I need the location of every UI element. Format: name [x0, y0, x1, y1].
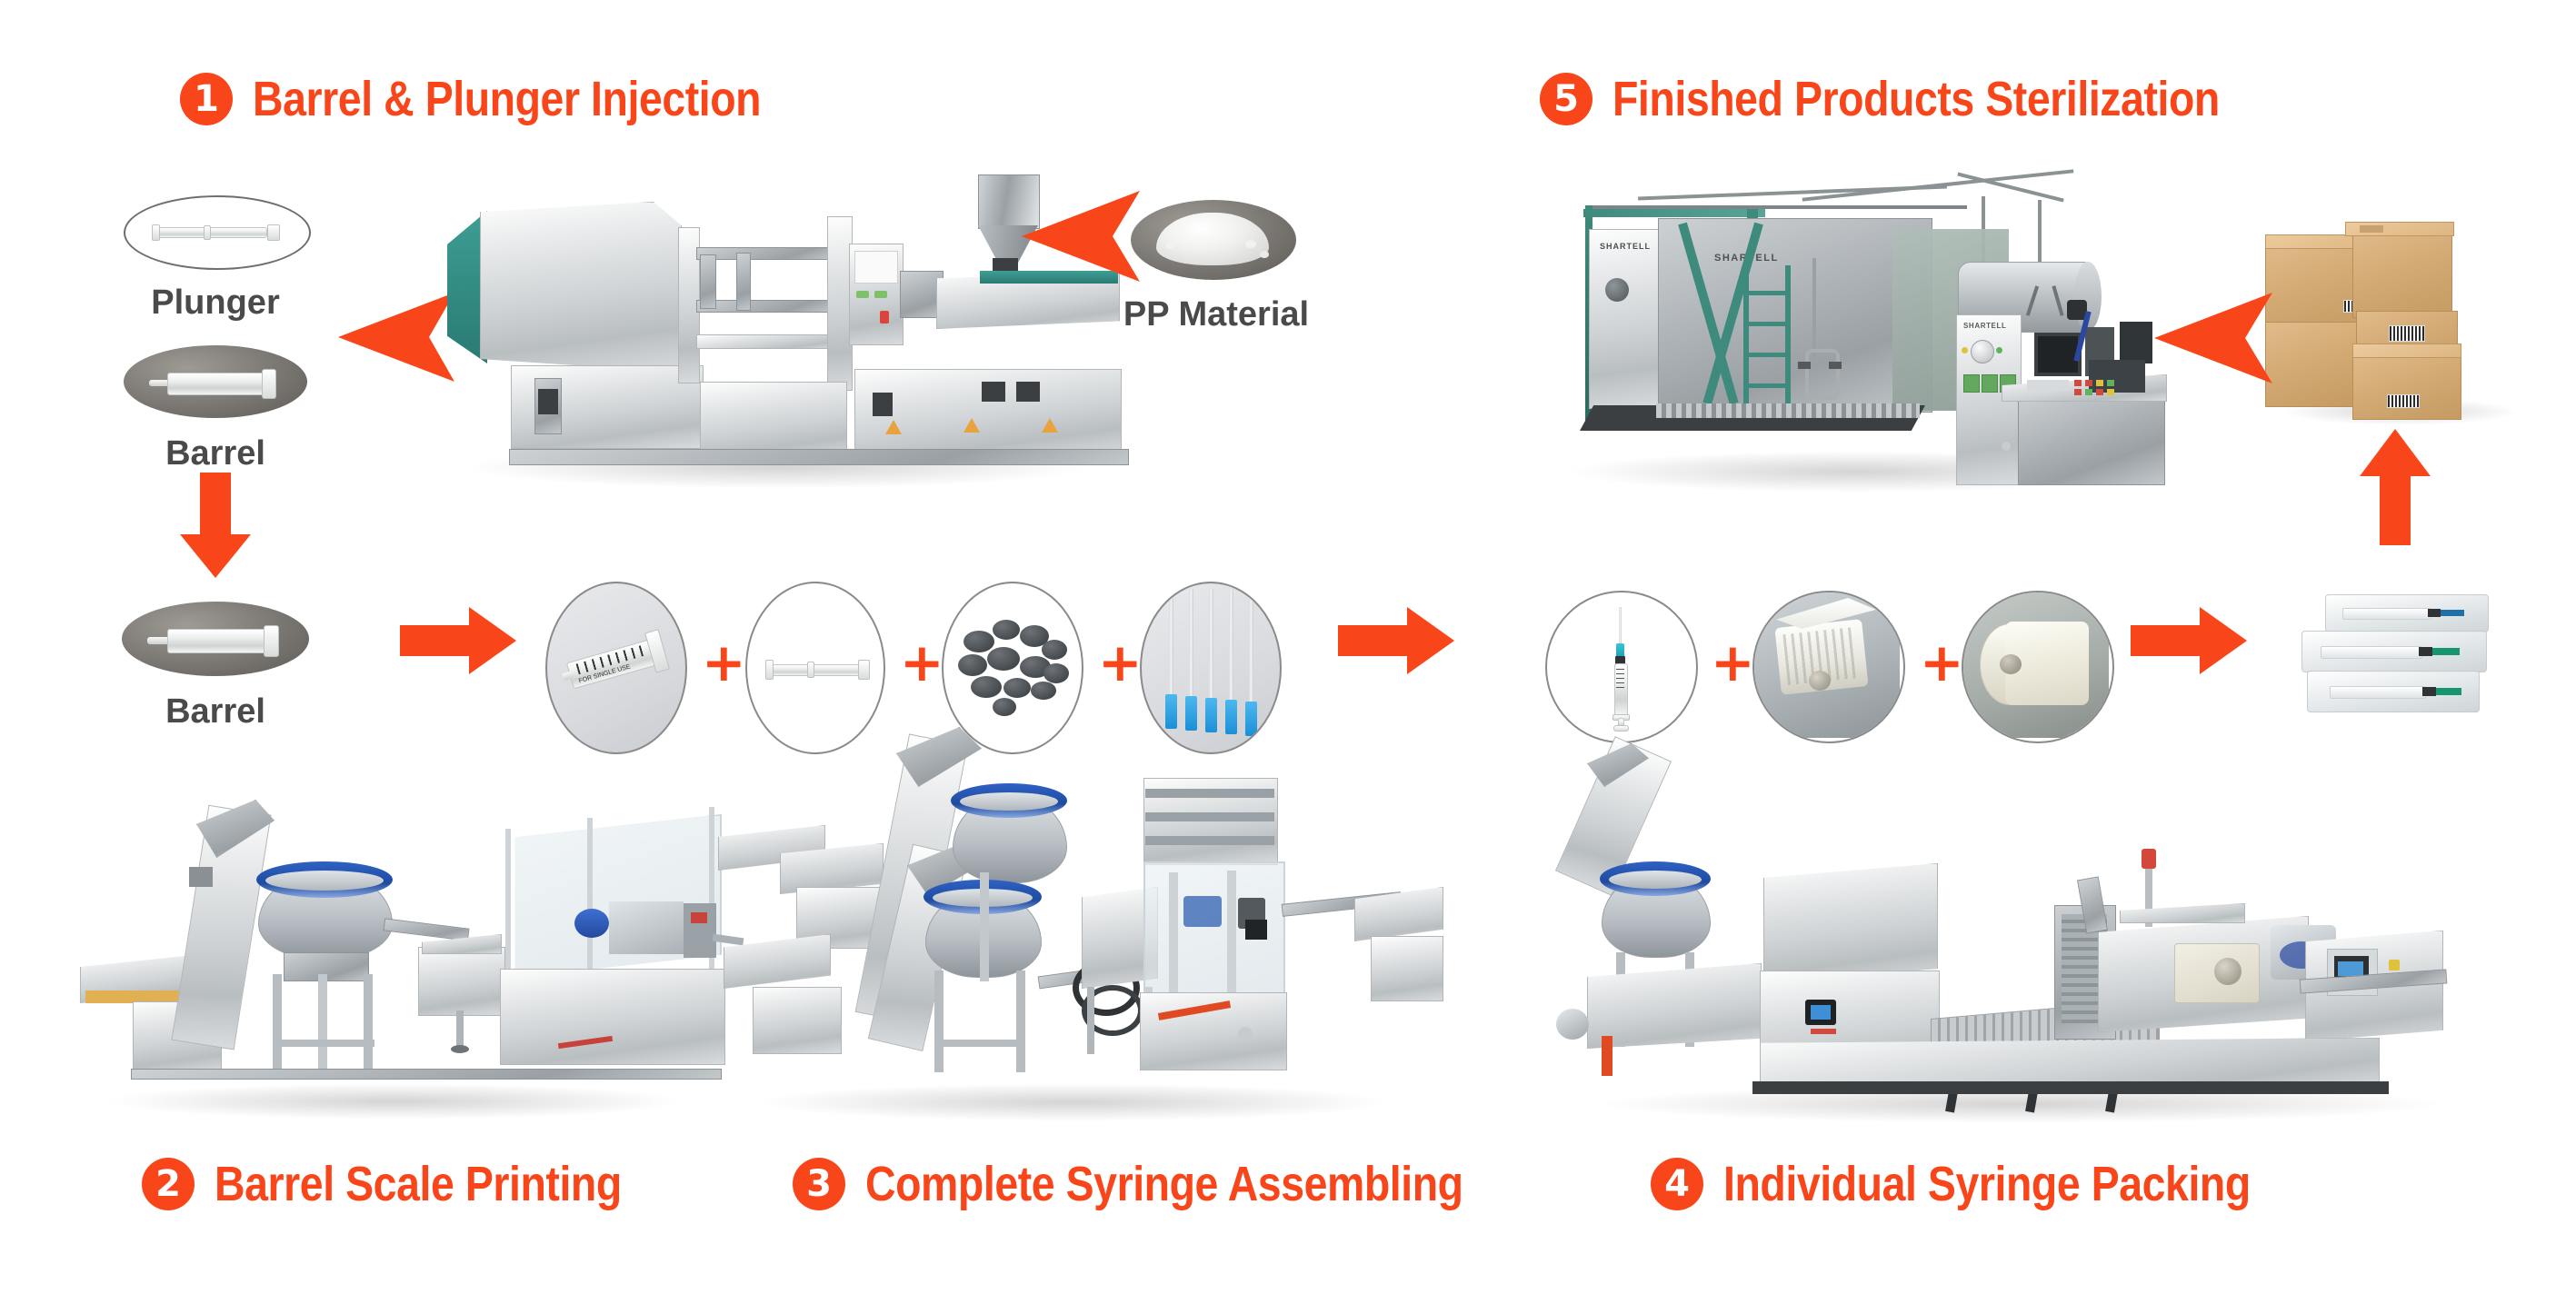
sterilizer-left-panel-brand: SHARTELL — [1600, 242, 1651, 251]
step-title-2: 2 Barrel Scale Printing — [142, 1156, 688, 1212]
arrow-packed-to-boxes-up — [2360, 429, 2431, 545]
step-badge-2: 2 — [142, 1158, 195, 1210]
sterilizer-machine-photo: SHARTELL SHARTELL SHARTELL — [1529, 178, 2202, 502]
assembled-syringe-chip — [1545, 591, 1698, 743]
step-badge-1: 1 — [180, 73, 233, 125]
step-label-1: Barrel & Plunger Injection — [253, 71, 761, 127]
sterilizer-body-brand: SHARTELL — [1714, 253, 1796, 264]
pp-material-photo — [1131, 200, 1300, 284]
step-title-1: 1 Barrel & Plunger Injection — [180, 71, 844, 127]
step-badge-4: 4 — [1651, 1158, 1703, 1210]
step-label-4: Individual Syringe Packing — [1723, 1156, 2251, 1212]
syringe-assembling-line-photo — [718, 727, 1445, 1129]
printed-barrel-chip: FOR SINGLE USE — [545, 582, 687, 754]
plus-sign-3: + — [1098, 636, 1143, 689]
paper-roll-chip — [1752, 591, 1905, 743]
barrel-printing-line-photo — [76, 749, 731, 1127]
step-label-2: Barrel Scale Printing — [215, 1156, 622, 1212]
plus-sign-5: + — [1920, 636, 1964, 689]
caption-pp-material: PP Material — [1116, 295, 1316, 334]
caption-barrel-bottom: Barrel — [122, 692, 309, 732]
step-label-5: Finished Products Sterilization — [1612, 71, 2220, 127]
caption-barrel-top: Barrel — [124, 434, 307, 473]
caption-plunger: Plunger — [124, 284, 307, 323]
step-title-5: 5 Finished Products Sterilization — [1540, 71, 2319, 127]
process-flow-diagram: 1 Barrel & Plunger Injection 5 Finished … — [0, 0, 2576, 1314]
plus-sign-4: + — [1711, 636, 1755, 689]
arrow-from-pp-material — [1022, 191, 1140, 282]
packed-syringes-photo — [2294, 589, 2558, 734]
plus-sign-2: + — [900, 636, 944, 689]
arrow-components-to-assembled — [1338, 607, 1456, 674]
step-badge-3: 3 — [793, 1158, 845, 1210]
barrel-part-photo-top — [124, 345, 311, 422]
plus-sign-1: + — [702, 636, 746, 689]
step-badge-5: 5 — [1540, 73, 1593, 125]
injection-molding-machine-photo — [427, 164, 1118, 491]
arrow-film-to-packed — [2131, 607, 2249, 674]
barrel-part-photo-bottom — [122, 602, 313, 680]
step-label-3: Complete Syringe Assembling — [865, 1156, 1463, 1212]
plunger-part-photo — [124, 195, 311, 270]
arrow-barrel-down — [180, 473, 251, 578]
cardboard-boxes-photo — [2265, 220, 2556, 420]
step-title-4: 4 Individual Syringe Packing — [1651, 1156, 2336, 1212]
arrow-barrel-to-components — [400, 607, 516, 674]
syringe-packing-line-photo — [1538, 736, 2520, 1129]
sterilizer-cabinet-brand: SHARTELL — [1963, 322, 2003, 330]
step-title-3: 3 Complete Syringe Assembling — [793, 1156, 1561, 1212]
film-roll-chip — [1962, 591, 2114, 743]
